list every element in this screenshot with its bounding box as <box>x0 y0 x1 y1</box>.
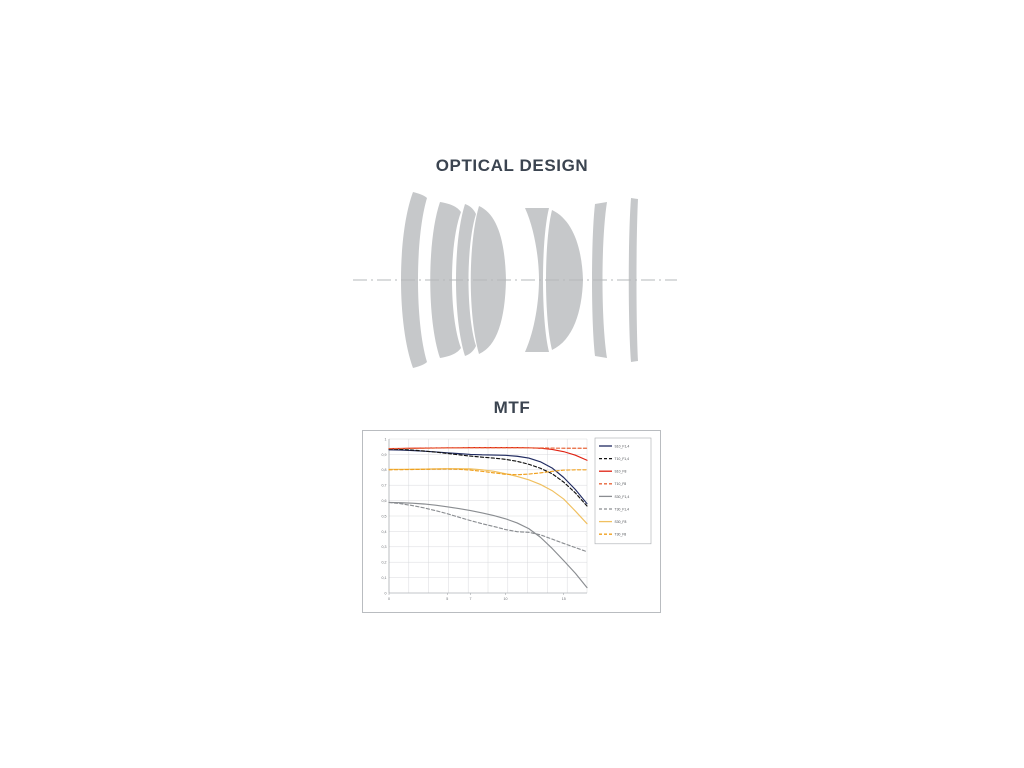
y-tick-label: 0,9 <box>382 453 387 457</box>
mtf-title: MTF <box>0 398 1024 418</box>
legend-label: T30_F1,4 <box>615 507 630 511</box>
y-tick-label: 0,3 <box>382 545 387 549</box>
mtf-chart: 10,90,80,70,60,50,40,30,20,10 0571015 S1… <box>362 430 661 613</box>
optical-design-diagram <box>345 180 685 380</box>
legend-label: S10_F8 <box>615 470 627 474</box>
page-root: OPTICAL DESIGN <box>0 0 1024 768</box>
y-tick-label: 0,1 <box>382 576 387 580</box>
legend-label: S30_F1,4 <box>615 495 630 499</box>
y-tick-label: 0,8 <box>382 468 387 472</box>
x-tick-label: 0 <box>388 597 390 601</box>
y-tick-label: 0,2 <box>382 561 387 565</box>
y-tick-label: 0,5 <box>382 514 387 518</box>
legend-label: S30_F8 <box>615 520 627 524</box>
y-tick-label: 1 <box>385 437 387 441</box>
y-tick-label: 0 <box>385 591 387 595</box>
optical-design-title: OPTICAL DESIGN <box>0 156 1024 176</box>
x-tick-label: 7 <box>470 597 472 601</box>
legend-label: T30_F8 <box>615 533 627 537</box>
chart-legend: S10_F1,4T10_F1,4S10_F8T10_F8S30_F1,4T30_… <box>595 438 651 544</box>
legend-label: T10_F8 <box>615 482 627 486</box>
y-tick-label: 0,4 <box>382 530 387 534</box>
x-tick-label: 15 <box>562 597 566 601</box>
legend-label: T10_F1,4 <box>615 457 630 461</box>
y-tick-label: 0,7 <box>382 484 387 488</box>
x-tick-label: 10 <box>503 597 507 601</box>
x-tick-label: 5 <box>446 597 448 601</box>
legend-label: S10_F1,4 <box>615 444 630 448</box>
y-tick-label: 0,6 <box>382 499 387 503</box>
